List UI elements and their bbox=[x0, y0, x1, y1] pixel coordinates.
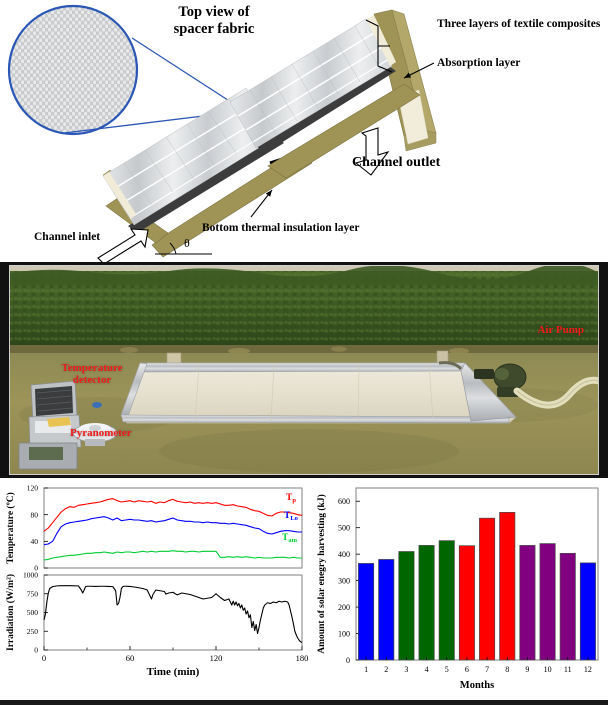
bar-month-7[interactable] bbox=[479, 518, 494, 660]
energy-axis-title: Amount of solar enegry harvesting (kJ) bbox=[316, 494, 327, 653]
energy-ytick: 500 bbox=[338, 523, 350, 532]
temp-ytick: 80 bbox=[31, 510, 39, 519]
energy-ytick: 400 bbox=[338, 550, 350, 559]
bar-month-1[interactable] bbox=[358, 563, 373, 660]
irr-ytick: 750 bbox=[27, 589, 39, 598]
bar-month-12[interactable] bbox=[580, 563, 595, 660]
temperature-plot-frame bbox=[44, 488, 302, 568]
energy-ytick: 600 bbox=[338, 497, 350, 506]
bottom-insulation-label: Bottom thermal insulation layer bbox=[202, 222, 359, 235]
month-xtick: 9 bbox=[525, 665, 529, 674]
photo-panel: Air Pump Temperature detector Pyranomete… bbox=[0, 262, 608, 478]
bar-month-9[interactable] bbox=[520, 545, 535, 660]
temperature-detector-label: Temperature detector bbox=[57, 362, 127, 386]
month-xtick: 1 bbox=[364, 665, 368, 674]
bar-month-8[interactable] bbox=[500, 512, 515, 660]
month-xtick: 2 bbox=[384, 665, 388, 674]
temp-ytick: 120 bbox=[27, 484, 39, 493]
irradiation-plot-frame bbox=[44, 575, 302, 650]
channel-inlet-label: Channel inlet bbox=[34, 231, 100, 244]
month-xtick: 10 bbox=[544, 665, 552, 674]
pyranometer-label: Pyranometer bbox=[70, 427, 132, 439]
irr-ytick: 1000 bbox=[23, 571, 38, 580]
tilt-angle-label: θ bbox=[184, 237, 190, 251]
charts-panel: 0408012002505007501000060120180TpTLoTamT… bbox=[0, 478, 608, 700]
absorption-layer-label: Absorption layer bbox=[437, 57, 520, 70]
channel-inlet-arrow bbox=[98, 229, 148, 262]
time-xtick: 60 bbox=[126, 653, 135, 663]
month-xtick: 6 bbox=[465, 665, 469, 674]
three-layers-label: Three layers of textile composites bbox=[437, 18, 600, 31]
air-pump-label: Air Pump bbox=[537, 324, 584, 336]
top-view-spacer-fabric-label: Top view of spacer fabric bbox=[144, 4, 284, 37]
months-axis-title: Months bbox=[460, 680, 494, 691]
composite-figure: Top view of spacer fabric Three layers o… bbox=[0, 0, 608, 700]
temp-ytick: 40 bbox=[31, 537, 39, 546]
bar-month-10[interactable] bbox=[540, 544, 555, 660]
time-xtick: 120 bbox=[210, 653, 223, 663]
time-xtick: 0 bbox=[42, 653, 46, 663]
temperature-axis-title: Temperature (ºC) bbox=[5, 492, 16, 563]
temperature-irradiation-chart: 0408012002505007501000060120180TpTLoTamT… bbox=[0, 478, 310, 700]
month-xtick: 7 bbox=[485, 665, 489, 674]
month-xtick: 3 bbox=[404, 665, 408, 674]
monthly-energy-svg: 0100200300400500600123456789101112Amount… bbox=[310, 478, 608, 700]
channel-outlet-label: Channel outlet bbox=[352, 155, 440, 171]
irr-ytick: 250 bbox=[27, 627, 39, 636]
bar-month-6[interactable] bbox=[459, 546, 474, 660]
energy-ytick: 100 bbox=[338, 629, 350, 638]
month-xtick: 4 bbox=[425, 665, 429, 674]
bar-month-5[interactable] bbox=[439, 541, 454, 660]
month-xtick: 5 bbox=[445, 665, 449, 674]
bar-month-11[interactable] bbox=[560, 553, 575, 660]
bar-month-4[interactable] bbox=[419, 545, 434, 660]
temperature-irradiation-svg: 0408012002505007501000060120180TpTLoTamT… bbox=[0, 478, 310, 700]
energy-ytick: 0 bbox=[346, 656, 350, 665]
time-xtick: 180 bbox=[296, 653, 309, 663]
bar-month-3[interactable] bbox=[399, 552, 414, 660]
month-xtick: 12 bbox=[584, 665, 592, 674]
irr-ytick: 0 bbox=[34, 646, 38, 655]
schematic-panel: Top view of spacer fabric Three layers o… bbox=[0, 0, 608, 262]
time-axis-title: Time (min) bbox=[147, 666, 200, 678]
monthly-energy-chart: 0100200300400500600123456789101112Amount… bbox=[310, 478, 608, 700]
month-xtick: 11 bbox=[564, 665, 572, 674]
bar-month-2[interactable] bbox=[379, 559, 394, 660]
irradiation-axis-title: Irradiation (W/m²) bbox=[5, 574, 16, 651]
month-xtick: 8 bbox=[505, 665, 509, 674]
energy-ytick: 200 bbox=[338, 603, 350, 612]
irr-ytick: 500 bbox=[27, 608, 39, 617]
energy-ytick: 300 bbox=[338, 576, 350, 585]
